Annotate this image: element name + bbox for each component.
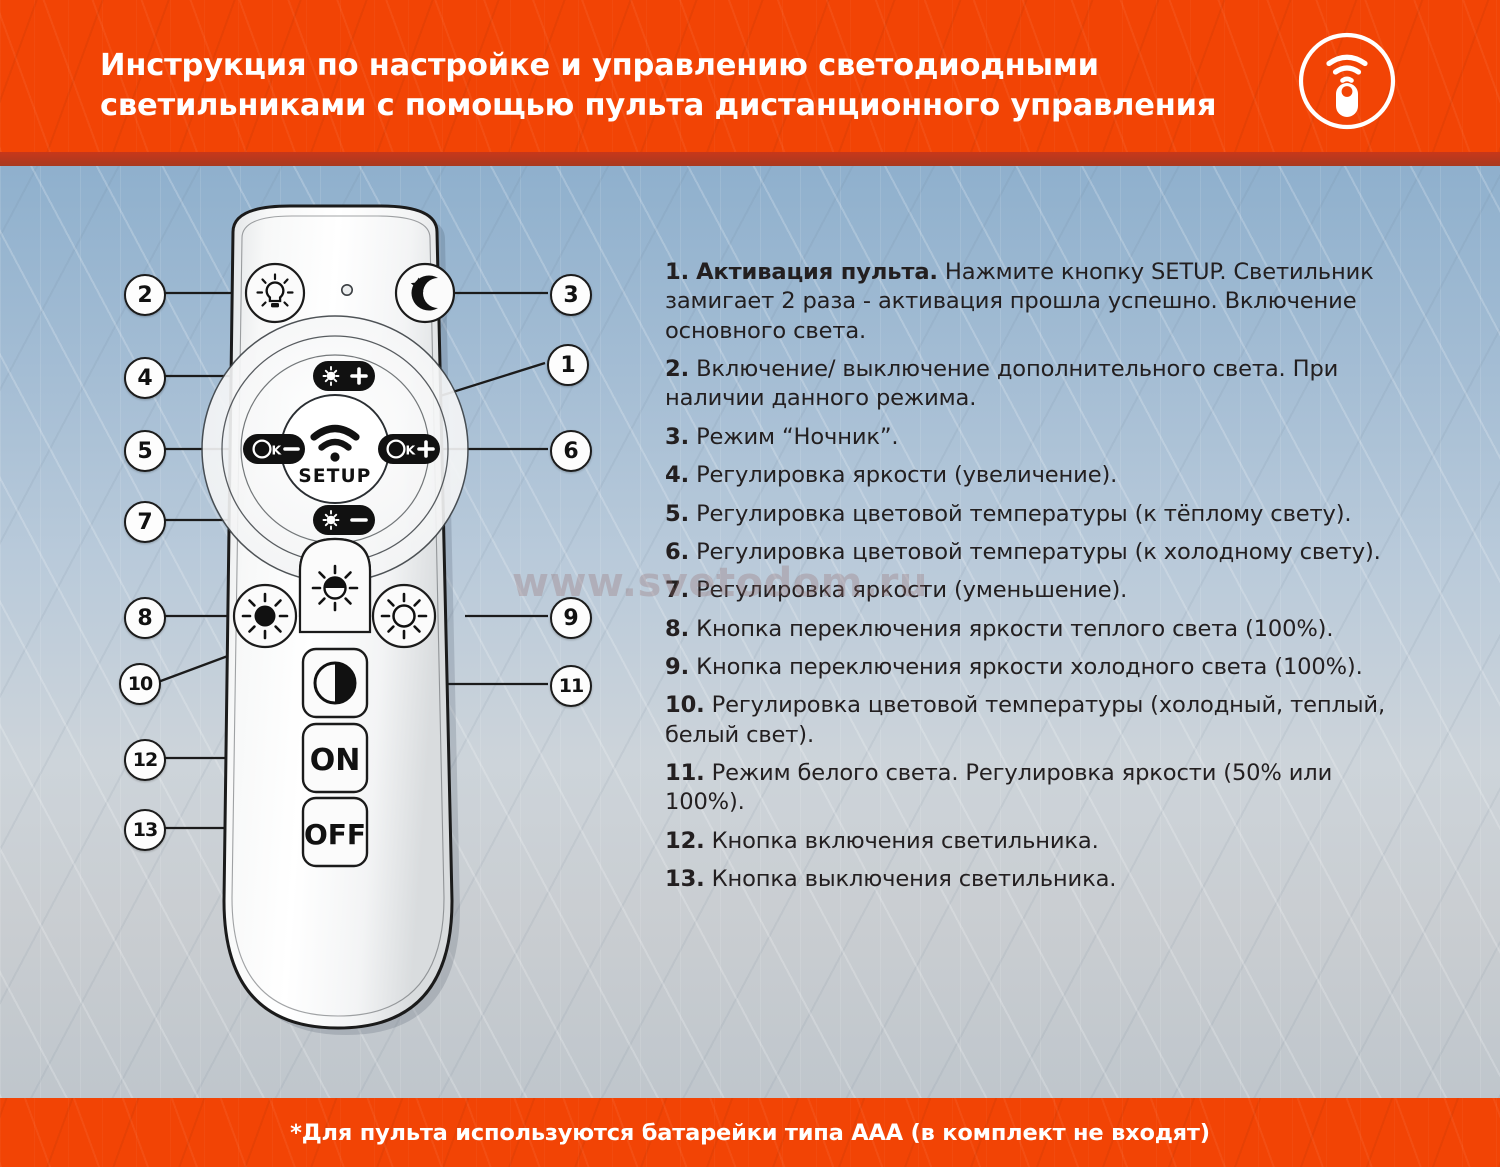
callout-label: 4 xyxy=(137,366,152,391)
instruction-number: 10. xyxy=(665,692,705,718)
instruction-item-10: 10. Регулировка цветовой температуры (хо… xyxy=(665,691,1410,750)
callout-3[interactable]: 3 xyxy=(550,274,592,316)
callout-9[interactable]: 9 xyxy=(550,597,592,639)
remote-control-signal-icon xyxy=(1296,30,1398,132)
callout-label: 9 xyxy=(563,606,578,631)
callout-10[interactable]: 10 xyxy=(119,663,161,705)
instruction-number: 5. xyxy=(665,501,689,527)
instruction-item-12: 12. Кнопка включения светильника. xyxy=(665,827,1410,856)
instruction-number: 12. xyxy=(665,828,705,854)
instruction-list: 1. Активация пульта. Нажмите кнопку SETU… xyxy=(665,258,1410,903)
instruction-number: 2. xyxy=(665,356,689,382)
callout-label: 6 xyxy=(563,439,578,464)
instruction-item-11: 11. Режим белого света. Регулировка ярко… xyxy=(665,759,1410,818)
instruction-number: 8. xyxy=(665,616,689,642)
instruction-text: Включение/ выключение дополнительного св… xyxy=(665,356,1338,411)
svg-text:K: K xyxy=(272,443,283,458)
callout-label: 5 xyxy=(137,439,152,464)
instruction-number: 6. xyxy=(665,539,689,565)
on-button-label: ON xyxy=(310,743,361,778)
callout-2[interactable]: 2 xyxy=(124,274,166,316)
callout-label: 3 xyxy=(563,283,578,308)
instruction-number: 3. xyxy=(665,424,689,450)
battery-note: *Для пульта используются батарейки типа … xyxy=(0,1098,1500,1167)
instruction-text: Регулировка яркости (увеличение). xyxy=(696,462,1117,488)
callout-5[interactable]: 5 xyxy=(124,430,166,472)
instruction-item-6: 6. Регулировка цветовой температуры (к х… xyxy=(665,538,1410,567)
callout-1[interactable]: 1 xyxy=(547,344,589,386)
callout-13[interactable]: 13 xyxy=(124,809,166,851)
instruction-item-5: 5. Регулировка цветовой температуры (к т… xyxy=(665,500,1410,529)
svg-text:K: K xyxy=(406,443,417,458)
instruction-number: 13. xyxy=(665,866,705,892)
instruction-item-8: 8. Кнопка переключения яркости теплого с… xyxy=(665,615,1410,644)
instruction-number: 1. xyxy=(665,259,689,285)
instruction-item-7: 7. Регулировка яркости (уменьшение). xyxy=(665,576,1410,605)
callout-label: 8 xyxy=(137,606,152,631)
header-accent-bar xyxy=(0,152,1500,166)
callout-12[interactable]: 12 xyxy=(124,739,166,781)
instruction-text: Режим “Ночник”. xyxy=(696,424,898,450)
instruction-text: Кнопка выключения светильника. xyxy=(712,866,1117,892)
instruction-text: Регулировка цветовой температуры (к холо… xyxy=(696,539,1381,565)
callout-label: 13 xyxy=(133,819,157,841)
page-footer: *Для пульта используются батарейки типа … xyxy=(0,1098,1500,1167)
instruction-text: Регулировка цветовой температуры (холодн… xyxy=(665,692,1385,747)
instruction-item-13: 13. Кнопка выключения светильника. xyxy=(665,865,1410,894)
callout-label: 7 xyxy=(137,510,152,535)
page-header: Инструкция по настройке и управлению све… xyxy=(0,0,1500,152)
instruction-number: 4. xyxy=(665,462,689,488)
instruction-item-9: 9. Кнопка переключения яркости холодного… xyxy=(665,653,1410,682)
instruction-item-1: 1. Активация пульта. Нажмите кнопку SETU… xyxy=(665,258,1410,346)
instruction-text: Режим белого света. Регулировка яркости … xyxy=(665,760,1332,815)
callout-label: 2 xyxy=(137,283,152,308)
callout-8[interactable]: 8 xyxy=(124,597,166,639)
off-button-label: OFF xyxy=(304,818,366,851)
instruction-item-4: 4. Регулировка яркости (увеличение). xyxy=(665,461,1410,490)
instruction-text: Регулировка яркости (уменьшение). xyxy=(696,577,1127,603)
callout-6[interactable]: 6 xyxy=(550,430,592,472)
setup-button-label: SETUP xyxy=(298,466,371,487)
callout-11[interactable]: 11 xyxy=(550,665,592,707)
instruction-text: Регулировка цветовой температуры (к тёпл… xyxy=(696,501,1351,527)
callout-4[interactable]: 4 xyxy=(124,357,166,399)
instruction-text: Кнопка переключения яркости холодного св… xyxy=(696,654,1363,680)
instruction-text: Кнопка включения светильника. xyxy=(712,828,1099,854)
callout-label: 10 xyxy=(128,673,152,695)
instruction-item-3: 3. Режим “Ночник”. xyxy=(665,423,1410,452)
callout-label: 1 xyxy=(560,353,575,378)
instruction-text: Кнопка переключения яркости теплого свет… xyxy=(696,616,1333,642)
callout-label: 12 xyxy=(133,749,157,771)
callout-7[interactable]: 7 xyxy=(124,501,166,543)
instruction-number: 9. xyxy=(665,654,689,680)
callout-label: 11 xyxy=(559,675,583,697)
instruction-item-2: 2. Включение/ выключение дополнительного… xyxy=(665,355,1410,414)
page-title: Инструкция по настройке и управлению све… xyxy=(100,46,1260,127)
instruction-number: 11. xyxy=(665,760,705,786)
instruction-lead: Активация пульта. xyxy=(696,259,938,285)
instruction-number: 7. xyxy=(665,577,689,603)
